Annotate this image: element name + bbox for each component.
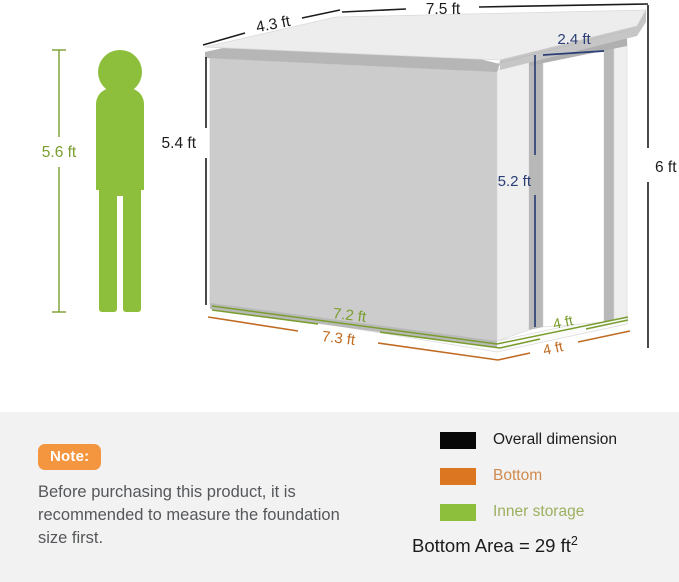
shed-dimension-infographic: 5.6 ft (0, 0, 679, 582)
bottom-area-summary: Bottom Area = 29 ft2 (412, 534, 578, 557)
bottom-area-exponent: 2 (571, 534, 578, 548)
dimension-label-overall-height: 6 ft (655, 159, 677, 176)
dimension-label-wall-height-left: 5.4 ft (162, 135, 197, 152)
shed-door-frame-right-post (604, 44, 614, 322)
diagram-area: 5.6 ft (0, 0, 679, 412)
legend-label-bottom: Bottom (493, 467, 542, 485)
legend-label-inner-storage: Inner storage (493, 503, 584, 521)
human-figure-icon (96, 50, 144, 312)
legend: Overall dimension Bottom Inner storage (440, 428, 670, 536)
dimension-person-height: 5.6 ft (42, 50, 77, 312)
legend-item-inner-storage: Inner storage (440, 500, 670, 524)
legend-swatch-bottom (440, 468, 476, 485)
shed-diagram-svg: 5.6 ft (0, 0, 679, 412)
dimension-overall-height: 6 ft (648, 5, 677, 348)
legend-swatch-overall-dimension (440, 432, 476, 449)
note-badge: Note: (38, 444, 101, 470)
dimension-label-person-height: 5.6 ft (42, 144, 77, 161)
dimension-label-bottom-length: 7.3 ft (321, 328, 357, 349)
shed-right-outer-wall (614, 41, 627, 320)
shed-side-wall-left-panel (497, 56, 529, 341)
legend-label-overall-dimension: Overall dimension (493, 431, 617, 449)
shed-front-wall (210, 55, 497, 341)
dimension-wall-height-left: 5.4 ft (162, 57, 206, 305)
legend-item-overall-dimension: Overall dimension (440, 428, 670, 452)
shed-door-opening (543, 46, 604, 327)
dimension-label-door-height: 5.2 ft (498, 173, 532, 190)
bottom-area-text: Bottom Area = 29 ft (412, 535, 571, 556)
shed-door-frame-left-post (529, 50, 543, 330)
dimension-label-bottom-depth: 4 ft (542, 339, 565, 359)
dimension-label-door-width: 2.4 ft (557, 31, 591, 48)
dimension-label-roof-width: 7.5 ft (426, 1, 461, 18)
legend-swatch-inner-storage (440, 504, 476, 521)
note-text: Before purchasing this product, it is re… (38, 481, 368, 550)
legend-item-bottom: Bottom (440, 464, 670, 488)
